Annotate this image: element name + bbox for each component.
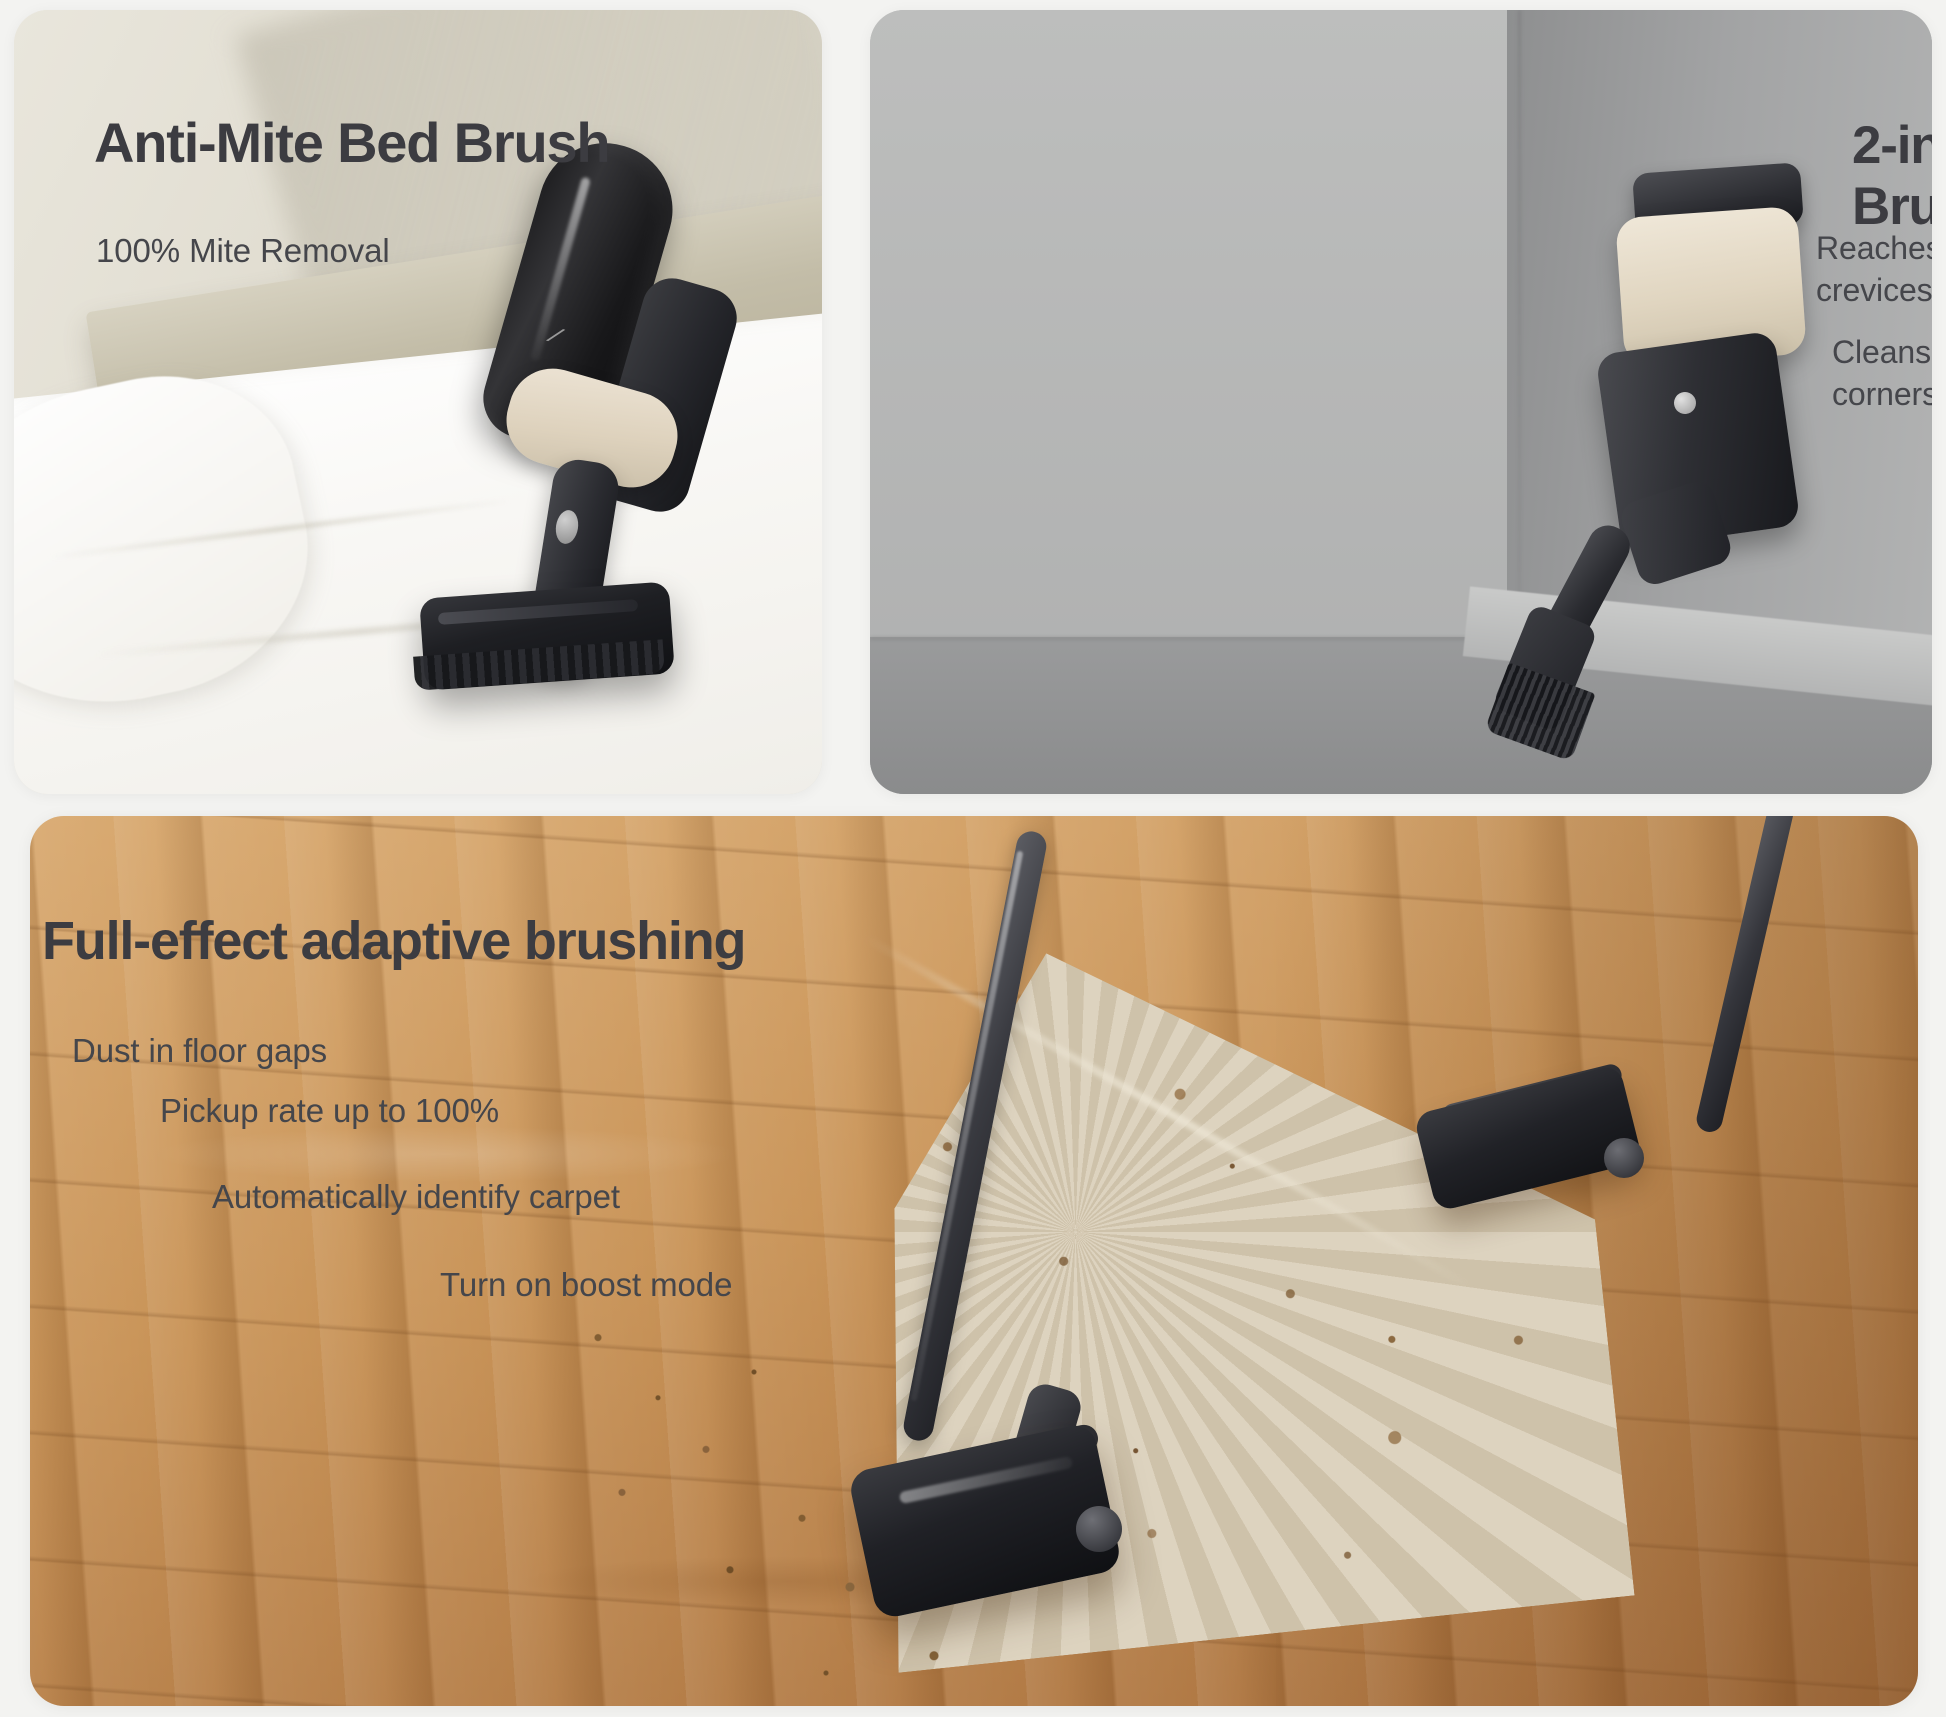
- product-feature-page: ⟋ Anti-Mite Bed Brush 100% Mite Removal: [0, 0, 1946, 1717]
- main-vacuum-illustration: [720, 826, 1240, 1656]
- floor-brush-head: [1413, 1064, 1643, 1212]
- card-subtitle-reaches-crevices: Reaches deep into crevices: [1816, 228, 1932, 311]
- card-subtitle-cleans-edges: Cleans edges and corners: [1832, 332, 1932, 415]
- bed-brush-vacuum-illustration: ⟋: [444, 130, 822, 690]
- grey-corner-scene-image: [870, 10, 1932, 794]
- floor-head-wheel: [1076, 1506, 1122, 1552]
- card-subtitle-mite-removal: 100% Mite Removal: [96, 232, 390, 270]
- secondary-vacuum-illustration: [1378, 816, 1798, 1296]
- card-title-two-in-one-brush: 2-in-1 Brush: [1852, 115, 1932, 237]
- vacuum-pole: [1694, 816, 1796, 1135]
- vacuum-pole-highlight: [911, 851, 1024, 1402]
- card-subtitle-identify-carpet: Automatically identify carpet: [212, 1178, 620, 1216]
- card-subtitle-dust-in-floor-gaps: Dust in floor gaps: [72, 1032, 327, 1070]
- card-title-anti-mite-bed-brush: Anti-Mite Bed Brush: [94, 110, 609, 175]
- card-subtitle-boost-mode: Turn on boost mode: [440, 1266, 732, 1304]
- floor-head-wheel: [1604, 1138, 1644, 1178]
- card-anti-mite-bed-brush[interactable]: ⟋ Anti-Mite Bed Brush 100% Mite Removal: [14, 10, 822, 794]
- card-two-in-one-brush[interactable]: 2-in-1 Brush Reaches deep into crevices …: [870, 10, 1932, 794]
- top-card-row: ⟋ Anti-Mite Bed Brush 100% Mite Removal: [14, 10, 1932, 794]
- card-title-full-effect-adaptive-brushing: Full-effect adaptive brushing: [42, 910, 745, 972]
- card-subtitle-pickup-rate: Pickup rate up to 100%: [160, 1092, 499, 1130]
